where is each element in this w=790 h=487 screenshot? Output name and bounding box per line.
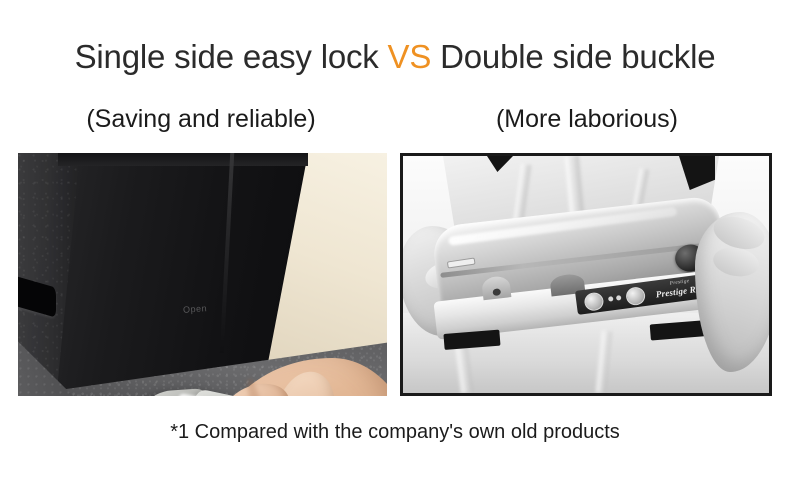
headline-vs-accent: VS — [388, 38, 432, 75]
subcaption-row: (Saving and reliable) (More laborious) — [0, 105, 790, 134]
page-title: Single side easy lock VS Double side buc… — [0, 38, 790, 76]
sealer-led-1 — [608, 296, 614, 302]
sealer-button-1 — [583, 291, 604, 311]
comparison-photo-row: Open — [18, 153, 772, 396]
left-photo-open-label: Open — [183, 303, 208, 315]
left-photo-door-top-lip — [58, 153, 308, 166]
photo-double-side-buckle: Prestige Prestige Roll — [400, 153, 772, 396]
sealer-led-2 — [616, 295, 622, 301]
headline-part-right: Double side buckle — [431, 38, 715, 75]
footnote: *1 Compared with the company's own old p… — [0, 421, 790, 444]
headline-part-left: Single side easy lock — [75, 38, 388, 75]
photo-single-side-easy-lock: Open — [18, 153, 387, 396]
subcaption-right: (More laborious) — [402, 105, 790, 134]
sealer-button-2 — [625, 286, 646, 306]
subcaption-left: (Saving and reliable) — [0, 105, 402, 134]
